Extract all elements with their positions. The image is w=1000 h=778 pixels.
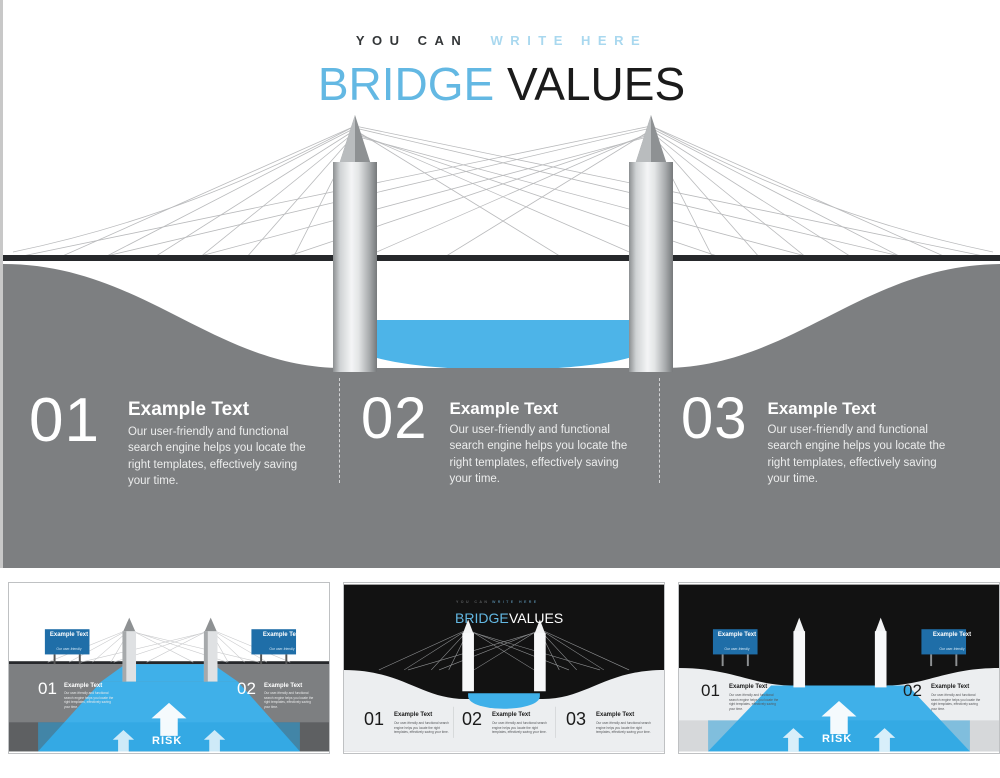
thumb3-item-title-right: Example Text <box>931 684 969 690</box>
thumb1-artwork <box>9 583 329 753</box>
column-divider-2 <box>659 378 660 483</box>
presentation-preview: { "slide": { "kicker_dark": "YOU CAN", "… <box>0 0 1000 778</box>
thumb3-sign-left-sub: Our user-friendly <box>715 647 759 651</box>
thumb1-item-title-right: Example Text <box>264 683 302 689</box>
thumb2-title-03: Example Text <box>596 712 634 718</box>
thumb3-sign-right-sub: Our user-friendly <box>930 647 974 651</box>
thumb1-number-right: 02 <box>237 679 256 699</box>
column-description: Our user-friendly and functional search … <box>768 422 958 487</box>
thumb2-number-03: 03 <box>566 709 586 730</box>
thumb2-number-01: 01 <box>364 709 384 730</box>
river-valley <box>3 258 1000 368</box>
thumb3-item-title-left: Example Text <box>729 684 767 690</box>
thumbnail-light-risk-layout[interactable]: Example Text Our user-friendly Example T… <box>8 582 330 754</box>
content-columns: 01 Example Text Our user-friendly and fu… <box>3 378 1000 503</box>
column-divider-1 <box>339 378 340 483</box>
thumb1-sign-left-sub: Our user-friendly <box>47 647 91 651</box>
thumbnail-strip: Example Text Our user-friendly Example T… <box>0 578 1000 778</box>
thumb2-kicker-blue: WRITE HERE <box>492 600 539 604</box>
column-description: Our user-friendly and functional search … <box>450 422 640 487</box>
column-description: Our user-friendly and functional search … <box>128 424 318 489</box>
main-slide[interactable]: YOU CAN WRITE HERE BRIDGE VALUES <box>0 0 1000 568</box>
column-number: 02 <box>361 390 428 448</box>
column-number: 03 <box>681 390 748 448</box>
thumb1-item-title-left: Example Text <box>64 683 102 689</box>
column-title: Example Text <box>128 399 318 421</box>
thumb2-desc-01: Our user-friendly and functional search … <box>394 721 449 735</box>
thumb3-item-desc-left: Our user-friendly and functional search … <box>729 693 781 712</box>
column-title: Example Text <box>768 399 958 419</box>
thumb1-item-desc-right: Our user-friendly and functional search … <box>264 691 316 710</box>
column-title: Example Text <box>450 399 640 419</box>
bridge-deck <box>3 255 1000 261</box>
thumb1-number-left: 01 <box>38 679 57 699</box>
thumb3-item-desc-right: Our user-friendly and functional search … <box>931 693 983 712</box>
thumb3-risk-label: RISK <box>822 733 852 745</box>
content-column-02[interactable]: 02 Example Text Our user-friendly and fu… <box>339 378 659 503</box>
thumb1-item-desc-left: Our user-friendly and functional search … <box>64 691 116 710</box>
content-column-03[interactable]: 03 Example Text Our user-friendly and fu… <box>659 378 1000 503</box>
thumb2-title-01: Example Text <box>394 712 432 718</box>
thumbnail-dark-three-column-layout[interactable]: YOU CAN WRITE HERE BRIDGE VALUES 01 Exam… <box>343 582 665 754</box>
thumb2-title-02: Example Text <box>492 712 530 718</box>
thumb1-sign-left-title: Example Text <box>47 632 91 638</box>
thumb3-number-right: 02 <box>903 681 922 701</box>
thumb1-sign-right-sub: Our user-friendly <box>260 647 304 651</box>
column-number: 01 <box>29 390 100 452</box>
thumb1-sign-right-title: Example Text <box>260 632 304 638</box>
thumb1-risk-label: RISK <box>152 735 182 747</box>
thumb2-title-blue: BRIDGE <box>455 610 509 626</box>
thumb2-kicker-dark: YOU CAN <box>456 600 489 604</box>
thumbnail-dark-risk-layout[interactable]: Example Text Our user-friendly Example T… <box>678 582 1000 754</box>
content-column-01[interactable]: 01 Example Text Our user-friendly and fu… <box>3 378 339 503</box>
thumb2-title-dark: VALUES <box>509 610 563 626</box>
thumb3-artwork <box>679 583 999 753</box>
thumb3-sign-right-title: Example Text <box>930 632 974 638</box>
thumb2-desc-03: Our user-friendly and functional search … <box>596 721 651 735</box>
thumb3-number-left: 01 <box>701 681 720 701</box>
thumb2-desc-02: Our user-friendly and functional search … <box>492 721 547 735</box>
tower-shaft-right <box>629 162 673 372</box>
tower-shaft-left <box>333 162 377 372</box>
thumb2-number-02: 02 <box>462 709 482 730</box>
thumb3-sign-left-title: Example Text <box>715 632 759 638</box>
